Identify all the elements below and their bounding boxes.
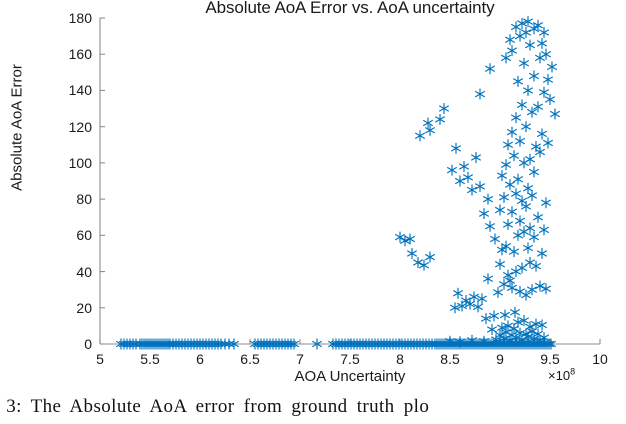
x-axis-label: AOA Uncertainty xyxy=(100,368,600,385)
data-point-marker xyxy=(395,232,405,243)
data-point-marker xyxy=(483,194,493,205)
data-point-marker xyxy=(523,183,533,194)
data-point-marker xyxy=(537,128,547,139)
data-point-marker xyxy=(507,282,517,293)
data-point-marker xyxy=(471,152,481,163)
data-point-marker xyxy=(487,324,497,335)
data-point-marker xyxy=(515,31,525,42)
data-point-marker xyxy=(455,176,465,187)
data-point-marker xyxy=(501,52,511,63)
x-axis-exponent-label: ×108 xyxy=(548,368,575,383)
y-tick-label: 180 xyxy=(40,10,92,26)
data-point-marker xyxy=(483,273,493,284)
data-point-marker xyxy=(521,27,531,38)
data-point-marker xyxy=(507,127,517,138)
data-point-marker xyxy=(490,233,500,244)
x-tick-label: 6 xyxy=(196,351,204,367)
data-point-marker xyxy=(539,87,549,98)
x-tick-label: 7.5 xyxy=(340,351,359,367)
data-point-marker xyxy=(513,230,523,241)
data-point-marker xyxy=(499,192,509,203)
data-point-marker xyxy=(519,157,529,168)
data-point-marker xyxy=(503,139,513,150)
data-point-marker xyxy=(523,85,533,96)
x-tick-label: 9.5 xyxy=(540,351,559,367)
data-point-marker xyxy=(537,38,547,49)
figure-caption: g. 3: The Absolute AoA error from ground… xyxy=(0,396,626,418)
data-point-marker xyxy=(539,224,549,235)
data-point-marker xyxy=(439,103,449,114)
data-point-marker xyxy=(529,232,539,243)
x-tick-label: 10 xyxy=(592,351,608,367)
data-point-marker xyxy=(505,179,515,190)
data-point-marker xyxy=(511,266,521,277)
data-point-marker xyxy=(505,34,515,45)
data-point-marker xyxy=(515,286,525,297)
data-point-marker xyxy=(493,287,503,298)
data-point-marker xyxy=(525,223,535,234)
data-point-marker xyxy=(425,125,435,136)
data-point-marker xyxy=(517,195,527,206)
y-tick-label: 60 xyxy=(40,227,92,243)
data-point-marker xyxy=(543,137,553,148)
data-point-marker xyxy=(500,310,510,321)
data-point-marker xyxy=(525,257,535,268)
y-tick-label: 20 xyxy=(40,300,92,316)
data-point-marker xyxy=(523,243,533,254)
x-tick-label: 5.5 xyxy=(140,351,159,367)
data-point-marker xyxy=(529,70,539,81)
data-point-marker xyxy=(541,49,551,60)
x-tick-label: 7 xyxy=(296,351,304,367)
data-point-marker xyxy=(541,197,551,208)
y-tick-label: 160 xyxy=(40,46,92,62)
data-point-markers xyxy=(116,16,560,349)
data-point-marker xyxy=(453,288,463,299)
data-point-marker xyxy=(497,170,507,181)
data-point-marker xyxy=(519,58,529,69)
data-point-marker xyxy=(499,279,509,290)
y-tick-label: 100 xyxy=(40,155,92,171)
data-point-marker xyxy=(550,108,560,119)
y-axis-label: Absolute AoA Error xyxy=(9,3,26,253)
exponent-power: 8 xyxy=(570,367,575,377)
y-tick-label: 80 xyxy=(40,191,92,207)
data-point-marker xyxy=(495,204,505,215)
data-point-marker xyxy=(415,130,425,141)
data-point-marker xyxy=(405,233,415,244)
data-point-marker xyxy=(467,185,477,196)
data-point-marker xyxy=(451,143,461,154)
data-point-marker xyxy=(507,206,517,217)
data-point-marker xyxy=(507,45,517,56)
data-point-marker xyxy=(459,161,469,172)
data-point-marker xyxy=(537,248,547,259)
y-tick-label: 120 xyxy=(40,119,92,135)
data-point-marker xyxy=(531,261,541,272)
figure-container: Absolute AoA Error vs. AoA uncertainty 0… xyxy=(0,0,626,424)
y-tick-marks xyxy=(100,18,105,344)
data-point-marker xyxy=(475,181,485,192)
data-point-marker xyxy=(475,89,485,100)
data-point-marker xyxy=(525,40,535,51)
data-point-marker xyxy=(527,190,537,201)
data-point-marker xyxy=(547,61,557,72)
x-tick-label: 9 xyxy=(496,351,504,367)
data-point-marker xyxy=(539,27,549,38)
x-tick-label: 5 xyxy=(96,351,104,367)
data-point-marker xyxy=(545,94,555,105)
data-point-marker xyxy=(503,270,513,281)
data-point-marker xyxy=(485,63,495,74)
data-point-marker xyxy=(531,141,541,152)
y-tick-label: 0 xyxy=(40,336,92,352)
data-point-marker xyxy=(533,212,543,223)
data-point-marker xyxy=(509,150,519,161)
data-point-marker xyxy=(447,165,457,176)
data-point-marker xyxy=(543,74,553,85)
data-point-marker xyxy=(479,208,489,219)
data-point-marker xyxy=(510,307,520,318)
data-point-marker xyxy=(511,112,521,123)
x-tick-label: 8.5 xyxy=(440,351,459,367)
data-point-marker xyxy=(521,201,531,212)
data-point-marker xyxy=(535,147,545,158)
data-point-marker xyxy=(535,52,545,63)
data-point-marker xyxy=(423,118,433,129)
data-point-marker xyxy=(515,136,525,147)
data-point-marker xyxy=(509,246,519,257)
data-point-marker xyxy=(485,221,495,232)
data-point-marker xyxy=(511,22,521,33)
data-point-marker xyxy=(501,159,511,170)
data-point-marker xyxy=(495,259,505,270)
data-point-marker xyxy=(519,226,529,237)
exponent-prefix: ×10 xyxy=(548,368,570,383)
data-point-marker xyxy=(521,121,531,132)
y-tick-label: 140 xyxy=(40,82,92,98)
data-point-marker xyxy=(511,188,521,199)
data-point-marker xyxy=(425,252,435,263)
data-point-marker xyxy=(515,215,525,226)
x-tick-label: 6.5 xyxy=(240,351,259,367)
x-tick-label: 8 xyxy=(396,351,404,367)
data-point-marker xyxy=(517,99,527,110)
data-point-marker xyxy=(400,235,410,246)
data-point-marker xyxy=(525,154,535,165)
data-point-marker xyxy=(435,114,445,125)
data-point-marker xyxy=(503,219,513,230)
data-point-marker xyxy=(513,174,523,185)
data-point-marker xyxy=(517,262,527,273)
scatter-plot-canvas xyxy=(0,0,626,424)
data-point-marker xyxy=(407,248,417,259)
data-point-marker xyxy=(513,76,523,87)
data-point-marker xyxy=(529,166,539,177)
data-point-marker xyxy=(463,172,473,183)
y-tick-label: 40 xyxy=(40,264,92,280)
